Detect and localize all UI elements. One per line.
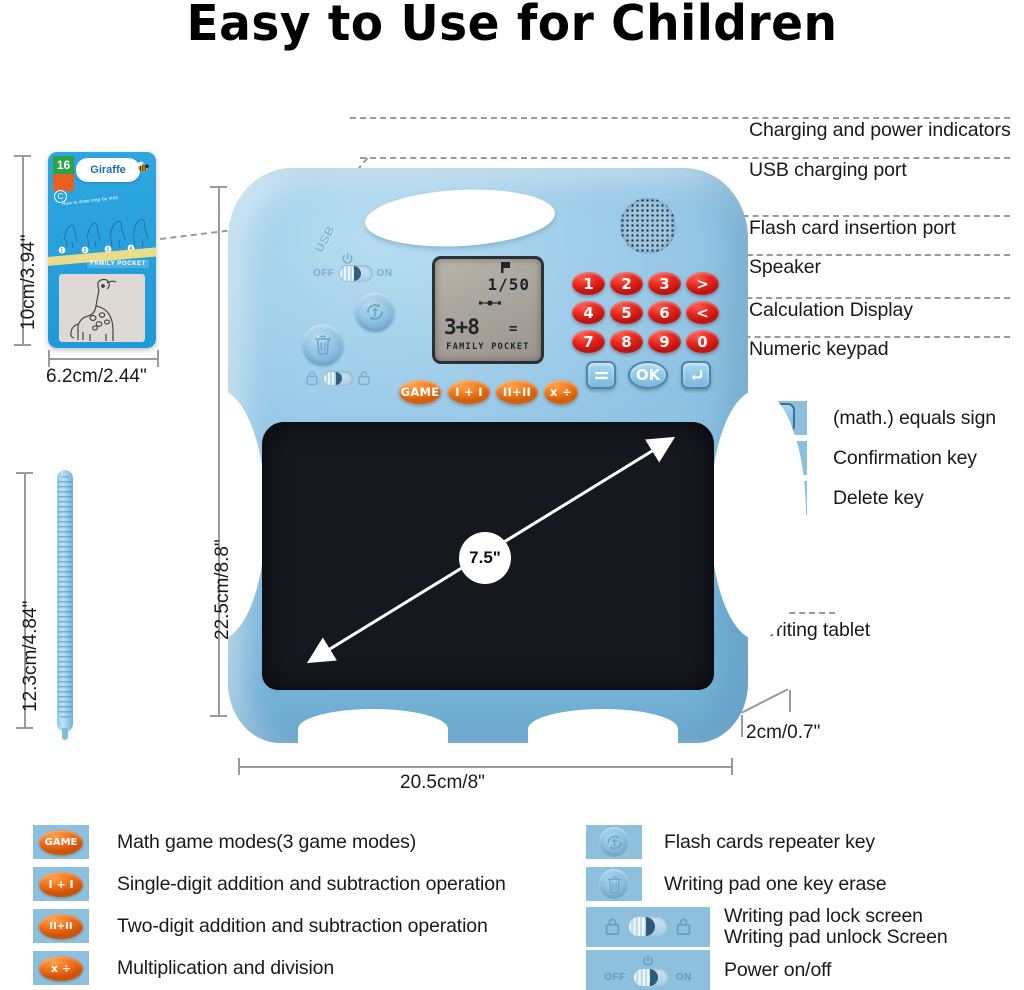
two-digit-button-icon[interactable]: II+II: [39, 914, 83, 939]
flash-card-drawing-area: [59, 274, 145, 342]
dim-card-width-line: [48, 358, 158, 360]
power-switch-knob[interactable]: [340, 266, 361, 281]
power-symbol-icon: [641, 954, 655, 967]
flash-card-steps-label: How to draw step by step: [62, 195, 119, 207]
lcd-flag-icon: [501, 262, 510, 273]
game-button-icon[interactable]: GAME: [39, 830, 83, 855]
dim-card-height-text: 10cm/3.94": [18, 235, 40, 330]
flash-card-repeater-button[interactable]: [355, 292, 395, 332]
callout-calculation-display: Calculation Display: [749, 299, 913, 322]
dim-device-height-cap-top: [210, 186, 227, 188]
stylus: [57, 470, 73, 732]
dash-usb: [360, 157, 1010, 159]
key-legend-delete-label: Delete key: [833, 487, 924, 510]
device-waist-right: [710, 390, 806, 640]
lock-closed-icon: [604, 917, 621, 936]
dim-card-height-cap-bottom: [14, 344, 31, 346]
lcd-counter: 1/50: [487, 275, 530, 294]
power-switch-on-label: ON: [377, 268, 393, 279]
page-title: Easy to Use for Children: [20, 0, 1003, 49]
legend-two-digit-label: Two-digit addition and subtraction opera…: [117, 915, 488, 938]
legend-erase-label: Writing pad one key erase: [664, 873, 886, 896]
key-2[interactable]: 2: [610, 272, 643, 295]
legend-power-label: Power on/off: [724, 959, 831, 982]
trash-button-icon[interactable]: [599, 869, 629, 899]
dim-stylus-cap-bottom: [16, 727, 33, 729]
dim-device-height-text: 22.5cm/8.8": [212, 539, 234, 640]
diagonal-size-badge: 7.5": [459, 532, 511, 584]
dim-stylus-cap-top: [16, 472, 33, 474]
single-digit-button[interactable]: I + I: [448, 380, 490, 404]
key-left[interactable]: <: [686, 301, 719, 324]
legend-repeater: Flash cards repeater key: [586, 825, 875, 859]
power-symbol-icon: [341, 252, 354, 265]
flash-card-color-block: [53, 174, 74, 191]
callout-usb-port: USB charging port: [749, 159, 907, 182]
lock-switch-track[interactable]: [323, 371, 353, 386]
device-foot-right: [528, 709, 678, 749]
legend-single-digit-label: Single-digit addition and subtraction op…: [117, 873, 506, 896]
return-arrow-glyph: [688, 369, 705, 382]
callout-flash-card-port: Flash card insertion port: [749, 217, 956, 240]
dim-device-width-cap-r: [731, 758, 733, 775]
legend-multiply-divide: x ÷ Multiplication and division: [33, 951, 334, 985]
key-1[interactable]: 1: [572, 272, 605, 295]
lcd-brand: FAMILY POCKET: [435, 342, 541, 352]
game-mode-button[interactable]: GAME: [399, 380, 441, 404]
legend-two-digit: II+II Two-digit addition and subtraction…: [33, 909, 488, 943]
lock-slider-track[interactable]: [628, 916, 668, 937]
dim-card-width-text: 6.2cm/2.44": [46, 366, 147, 388]
flash-card-brand: FAMILY POCKET: [87, 260, 149, 268]
key-legend-ok-label: Confirmation key: [833, 447, 977, 470]
lcd-equals-sign: =: [509, 321, 517, 337]
multiply-divide-button-icon[interactable]: x ÷: [39, 956, 83, 981]
stylus-ribs: [58, 476, 72, 718]
device-foot-left: [298, 709, 448, 749]
flash-card: 16 Giraffe C How to draw step by step 1 …: [48, 152, 156, 348]
flash-card-title: Giraffe: [76, 158, 140, 182]
multiply-divide-button[interactable]: x ÷: [544, 380, 578, 404]
lock-open-icon: [357, 370, 371, 386]
two-digit-button[interactable]: II+II: [496, 380, 538, 404]
dim-stylus-text: 12.3cm/4.84": [20, 601, 42, 712]
erase-button[interactable]: [302, 324, 344, 366]
dim-card-width-cap-l: [48, 350, 50, 367]
callout-numeric-keypad: Numeric keypad: [749, 338, 889, 361]
dim-device-height-cap-bottom: [210, 715, 227, 717]
power-switch-track[interactable]: [339, 265, 373, 282]
lock-switch[interactable]: [305, 370, 371, 386]
lock-switch-knob[interactable]: [324, 372, 342, 385]
flash-card-step-drawings: 1 2 3 4: [54, 206, 152, 254]
giraffe-drawing: [59, 274, 145, 342]
power-slider-track[interactable]: [633, 968, 669, 987]
speaker-grille: [620, 198, 676, 254]
lock-slider-icon[interactable]: [604, 916, 692, 937]
key-6[interactable]: 6: [648, 301, 681, 324]
key-legend-equals-label: (math.) equals sign: [833, 407, 996, 430]
dim-thickness-line: [741, 688, 788, 713]
trash-icon: [312, 333, 334, 357]
dim-thickness-cap-l: [741, 715, 743, 737]
device-delete-key[interactable]: [681, 361, 711, 389]
legend-multiply-divide-label: Multiplication and division: [117, 957, 334, 980]
key-7[interactable]: 7: [572, 330, 605, 353]
flash-card-number: 16: [53, 156, 74, 174]
trash-icon: [605, 874, 624, 895]
lock-open-icon: [675, 917, 692, 936]
dim-device-width-cap-l: [238, 758, 240, 775]
game-button-tile: GAME: [33, 825, 89, 859]
legend-game-mode: GAME Math game modes(3 game modes): [33, 825, 416, 859]
key-5[interactable]: 5: [610, 301, 643, 324]
legend-power: OFF ON Power on/off: [586, 950, 831, 990]
key-right[interactable]: >: [686, 272, 719, 295]
lcd-dumbbell-icon: [479, 299, 501, 307]
dim-card-height-cap-top: [14, 155, 31, 157]
lcd-equation: 3+8: [444, 315, 479, 339]
lock-slider-tile: [586, 907, 710, 947]
legend-game-mode-label: Math game modes(3 game modes): [117, 831, 416, 854]
equals-glyph: [594, 370, 609, 381]
key-0[interactable]: 0: [686, 330, 719, 353]
callout-charging-indicators: Charging and power indicators: [749, 119, 1011, 142]
power-switch-off-label: OFF: [313, 268, 335, 279]
dim-thickness-text: 2cm/0.7": [746, 722, 820, 744]
lock-closed-icon: [305, 370, 319, 386]
stylus-tip: [62, 728, 68, 740]
legend-lock: Writing pad lock screen Writing pad unlo…: [586, 906, 948, 947]
legend-lock-label-line1: Writing pad lock screen: [724, 906, 948, 927]
trash-button-tile: [586, 867, 642, 901]
legend-repeater-label: Flash cards repeater key: [664, 831, 875, 854]
repeat-icon: [363, 300, 387, 324]
key-4[interactable]: 4: [572, 301, 605, 324]
key-8[interactable]: 8: [610, 330, 643, 353]
power-slider-icon[interactable]: OFF ON: [604, 968, 692, 987]
key-3[interactable]: 3: [648, 272, 681, 295]
multiply-divide-button-tile: x ÷: [33, 951, 89, 985]
lock-slider-knob[interactable]: [629, 917, 655, 936]
bee-icon: [134, 160, 150, 174]
legend-single-digit: I + I Single-digit addition and subtract…: [33, 867, 506, 901]
dim-card-width-cap-r: [157, 350, 159, 367]
dim-device-width-text: 20.5cm/8": [400, 772, 485, 794]
calculation-display: 1/50 3+8 = FAMILY POCKET: [432, 256, 544, 364]
legend-erase: Writing pad one key erase: [586, 867, 886, 901]
two-digit-button-tile: II+II: [33, 909, 89, 943]
svg-text:1: 1: [60, 248, 63, 254]
device-equals-key[interactable]: [586, 361, 616, 389]
dim-device-width-line: [238, 766, 733, 768]
power-slider-tile: OFF ON: [586, 950, 710, 990]
repeat-icon: [604, 832, 625, 853]
power-slider-on-label: ON: [676, 972, 692, 983]
key-9[interactable]: 9: [648, 330, 681, 353]
power-slider-knob[interactable]: [634, 969, 658, 986]
power-slider-off-label: OFF: [604, 972, 626, 983]
device-ok-key[interactable]: OK: [628, 361, 668, 389]
repeat-button-tile: [586, 825, 642, 859]
legend-lock-label-line2: Writing pad unlock Screen: [724, 927, 948, 948]
repeat-button-icon[interactable]: [599, 827, 629, 857]
callout-speaker: Speaker: [749, 256, 821, 279]
single-digit-button-tile: I + I: [33, 867, 89, 901]
power-switch[interactable]: OFF ON: [313, 265, 393, 282]
dim-thickness-cap-r: [789, 690, 791, 712]
single-digit-button-icon[interactable]: I + I: [39, 872, 83, 897]
